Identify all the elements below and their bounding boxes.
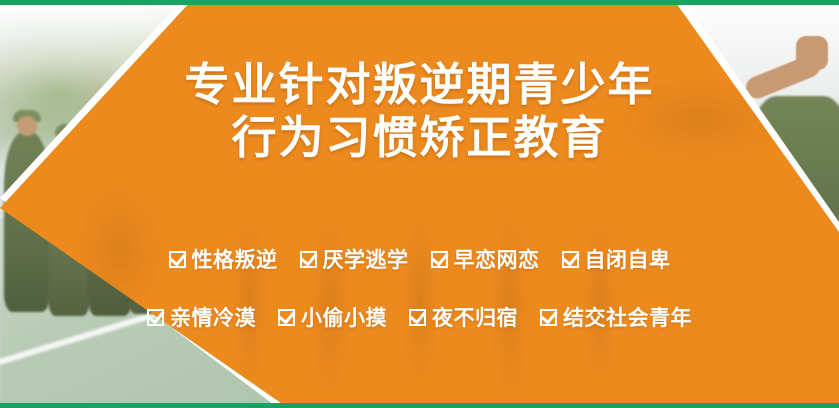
promo-banner: 专业针对叛逆期青少年 行为习惯矫正教育 性格叛逆 厌学逃学 早恋网恋	[0, 0, 839, 408]
feature-label: 小偷小摸	[301, 302, 387, 332]
feature-label: 亲情冷漠	[170, 302, 256, 332]
feature-row: 亲情冷漠 小偷小摸 夜不归宿 结交社会青年	[0, 302, 839, 332]
feature-item[interactable]: 亲情冷漠	[147, 302, 256, 332]
feature-label: 性格叛逆	[192, 244, 278, 274]
feature-label: 厌学逃学	[323, 244, 409, 274]
top-green-rule	[0, 0, 839, 5]
headline-line-2: 行为习惯矫正教育	[0, 115, 839, 161]
feature-item[interactable]: 小偷小摸	[278, 302, 387, 332]
feature-item[interactable]: 结交社会青年	[540, 302, 692, 332]
headline: 专业针对叛逆期青少年 行为习惯矫正教育	[0, 62, 839, 161]
feature-list: 性格叛逆 厌学逃学 早恋网恋 自闭自卑 亲情冷漠	[0, 244, 839, 332]
feature-row: 性格叛逆 厌学逃学 早恋网恋 自闭自卑	[0, 244, 839, 274]
feature-label: 自闭自卑	[585, 244, 671, 274]
feature-label: 早恋网恋	[454, 244, 540, 274]
checkbox-checked-icon[interactable]	[300, 251, 317, 268]
checkbox-checked-icon[interactable]	[562, 251, 579, 268]
feature-item[interactable]: 夜不归宿	[409, 302, 518, 332]
headline-line-1: 专业针对叛逆期青少年	[0, 62, 839, 108]
feature-item[interactable]: 性格叛逆	[169, 244, 278, 274]
checkbox-checked-icon[interactable]	[169, 251, 186, 268]
checkbox-checked-icon[interactable]	[431, 251, 448, 268]
checkbox-checked-icon[interactable]	[147, 309, 164, 326]
feature-item[interactable]: 早恋网恋	[431, 244, 540, 274]
feature-label: 夜不归宿	[432, 302, 518, 332]
banner-content: 专业针对叛逆期青少年 行为习惯矫正教育 性格叛逆 厌学逃学 早恋网恋	[0, 0, 839, 408]
feature-item[interactable]: 自闭自卑	[562, 244, 671, 274]
checkbox-checked-icon[interactable]	[278, 309, 295, 326]
checkbox-checked-icon[interactable]	[409, 309, 426, 326]
bottom-green-rule	[0, 403, 839, 408]
feature-item[interactable]: 厌学逃学	[300, 244, 409, 274]
feature-label: 结交社会青年	[563, 302, 692, 332]
checkbox-checked-icon[interactable]	[540, 309, 557, 326]
